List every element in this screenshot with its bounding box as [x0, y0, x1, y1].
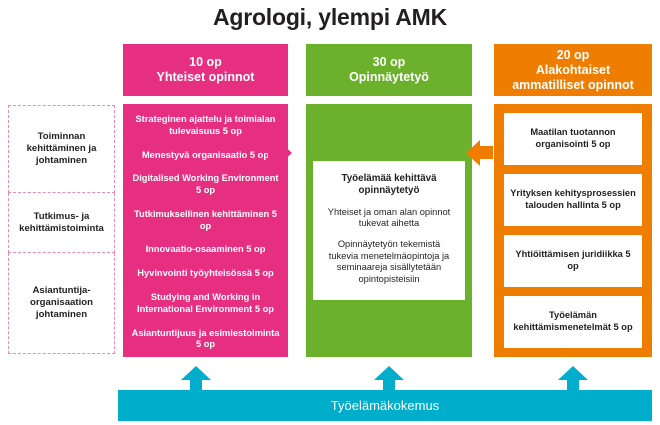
orange-course-box-stack: Maatilan tuotannon organisointi 5 op Yri… — [494, 104, 652, 357]
arrow-up-head — [181, 366, 211, 380]
diagram-canvas: Agrologi, ylempi AMK Toiminnan kehittämi… — [0, 0, 660, 425]
list-item: Tutkimuksellinen kehittäminen 5 op — [129, 209, 282, 232]
list-item: Innovaatio-osaaminen 5 op — [129, 244, 282, 256]
page-title: Agrologi, ylempi AMK — [0, 4, 660, 31]
orange-header-credits: 20 op — [512, 48, 634, 63]
arrow-up-head — [558, 366, 588, 380]
column-body-opinnaytetyo: Työelämää kehittävä opinnäytetyö Yhteise… — [306, 104, 472, 357]
green-header-credits: 30 op — [349, 55, 429, 70]
course-box: Työelämän kehittämismenetelmät 5 op — [504, 296, 642, 348]
theme-label-column: Toiminnan kehittäminen ja johtaminen Tut… — [8, 105, 115, 354]
column-body-alakohtaiset-opinnot: Maatilan tuotannon organisointi 5 op Yri… — [494, 104, 652, 357]
theme-label-1: Toiminnan kehittäminen ja johtaminen — [8, 105, 115, 193]
list-item: Digitalised Working Environment 5 op — [129, 173, 282, 196]
thesis-card-title: Työelämää kehittävä opinnäytetyö — [322, 173, 456, 198]
course-box: Yrityksen kehitysprosessien talouden hal… — [504, 174, 642, 226]
pink-header-title: Yhteiset opinnot — [157, 70, 255, 85]
arrow-up-head — [374, 366, 404, 380]
bottom-bar-tyoelamakokemus: Työelämäkokemus — [118, 390, 652, 421]
list-item: Studying and Working in International En… — [129, 292, 282, 315]
theme-label-3: Asiantuntija-organisaation johtaminen — [8, 253, 115, 354]
thesis-card: Työelämää kehittävä opinnäytetyö Yhteise… — [313, 161, 465, 300]
course-box: Yhtiöittämisen juridiikka 5 op — [504, 235, 642, 287]
list-item: Hyvinvointi työyhteisössä 5 op — [129, 268, 282, 280]
green-header-title: Opinnäytetyö — [349, 70, 429, 85]
orange-header-title-1: Alakohtaiset — [512, 63, 634, 78]
arrow-right-icon — [278, 140, 292, 166]
arrow-left-icon-stem — [479, 146, 493, 159]
bottom-bar-label: Työelämäkokemus — [331, 398, 439, 413]
pink-course-list: Strateginen ajattelu ja toimialan tuleva… — [123, 104, 288, 357]
list-item: Asiantuntijuus ja esimiestoiminta 5 op — [129, 328, 282, 351]
column-header-yhteiset-opinnot: 10 op Yhteiset opinnot — [123, 44, 288, 96]
thesis-card-paragraph-2: Opinnäytetyön tekemistä tukevia menetelm… — [322, 239, 456, 285]
list-item: Menestyvä organisaatio 5 op — [129, 150, 282, 162]
column-header-opinnaytetyo: 30 op Opinnäytetyö — [306, 44, 472, 96]
column-body-yhteiset-opinnot: Strateginen ajattelu ja toimialan tuleva… — [123, 104, 288, 357]
column-header-alakohtaiset-opinnot: 20 op Alakohtaiset ammatilliset opinnot — [494, 44, 652, 96]
course-box: Maatilan tuotannon organisointi 5 op — [504, 113, 642, 165]
list-item: Strateginen ajattelu ja toimialan tuleva… — [129, 114, 282, 137]
thesis-card-paragraph-1: Yhteiset ja oman alan opinnot tukevat ai… — [322, 207, 456, 230]
theme-label-2: Tutkimus- ja kehittämistoiminta — [8, 193, 115, 253]
pink-header-credits: 10 op — [157, 55, 255, 70]
arrow-left-icon — [466, 140, 480, 166]
orange-header-title-2: ammatilliset opinnot — [512, 78, 634, 93]
